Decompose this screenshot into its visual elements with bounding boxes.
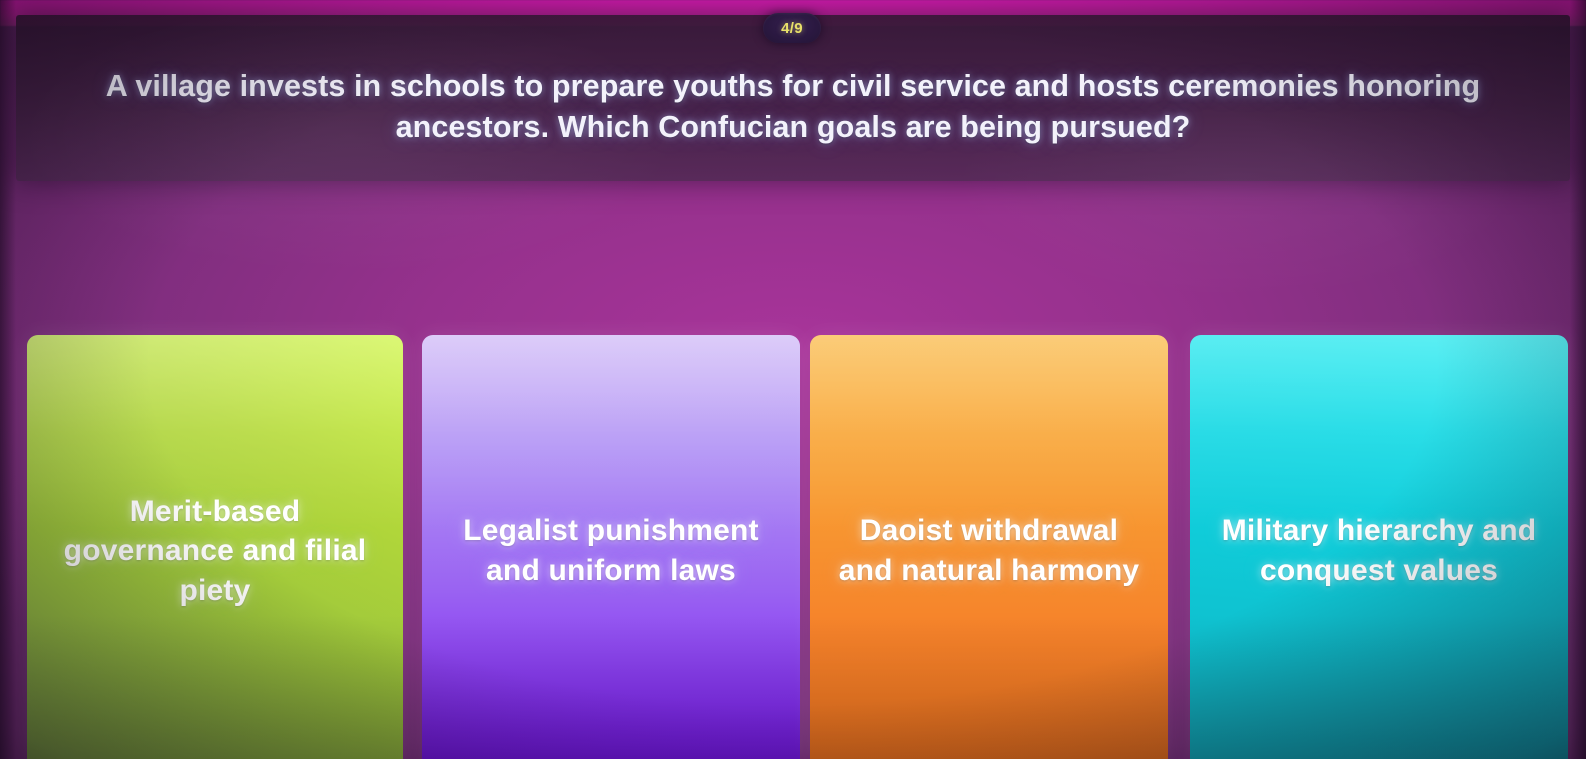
answer-option-2[interactable]: Legalist punishment and uniform laws [422, 335, 800, 759]
card-shade-overlay [27, 615, 403, 759]
answer-option-3[interactable]: Daoist withdrawal and natural harmony [810, 335, 1168, 759]
answer-option-3-label: Daoist withdrawal and natural harmony [835, 511, 1143, 590]
answer-options-row: Merit-based governance and filial piety … [0, 335, 1586, 759]
answer-option-4-label: Military hierarchy and conquest values [1216, 511, 1541, 590]
card-gloss-overlay [1190, 335, 1568, 530]
answer-option-1-label: Merit-based governance and filial piety [53, 492, 376, 611]
card-gloss-overlay [810, 335, 1168, 530]
card-shade-overlay [422, 615, 800, 759]
quiz-screen: A village invests in schools to prepare … [0, 0, 1586, 759]
progress-badge: 4/9 [763, 13, 821, 43]
answer-option-2-label: Legalist punishment and uniform laws [448, 511, 773, 590]
card-shade-overlay [1190, 615, 1568, 759]
answer-option-1[interactable]: Merit-based governance and filial piety [27, 335, 403, 759]
card-shade-overlay [810, 615, 1168, 759]
answer-option-4[interactable]: Military hierarchy and conquest values [1190, 335, 1568, 759]
question-text: A village invests in schools to prepare … [78, 48, 1508, 149]
progress-badge-label: 4/9 [781, 20, 803, 37]
card-gloss-overlay [422, 335, 800, 530]
